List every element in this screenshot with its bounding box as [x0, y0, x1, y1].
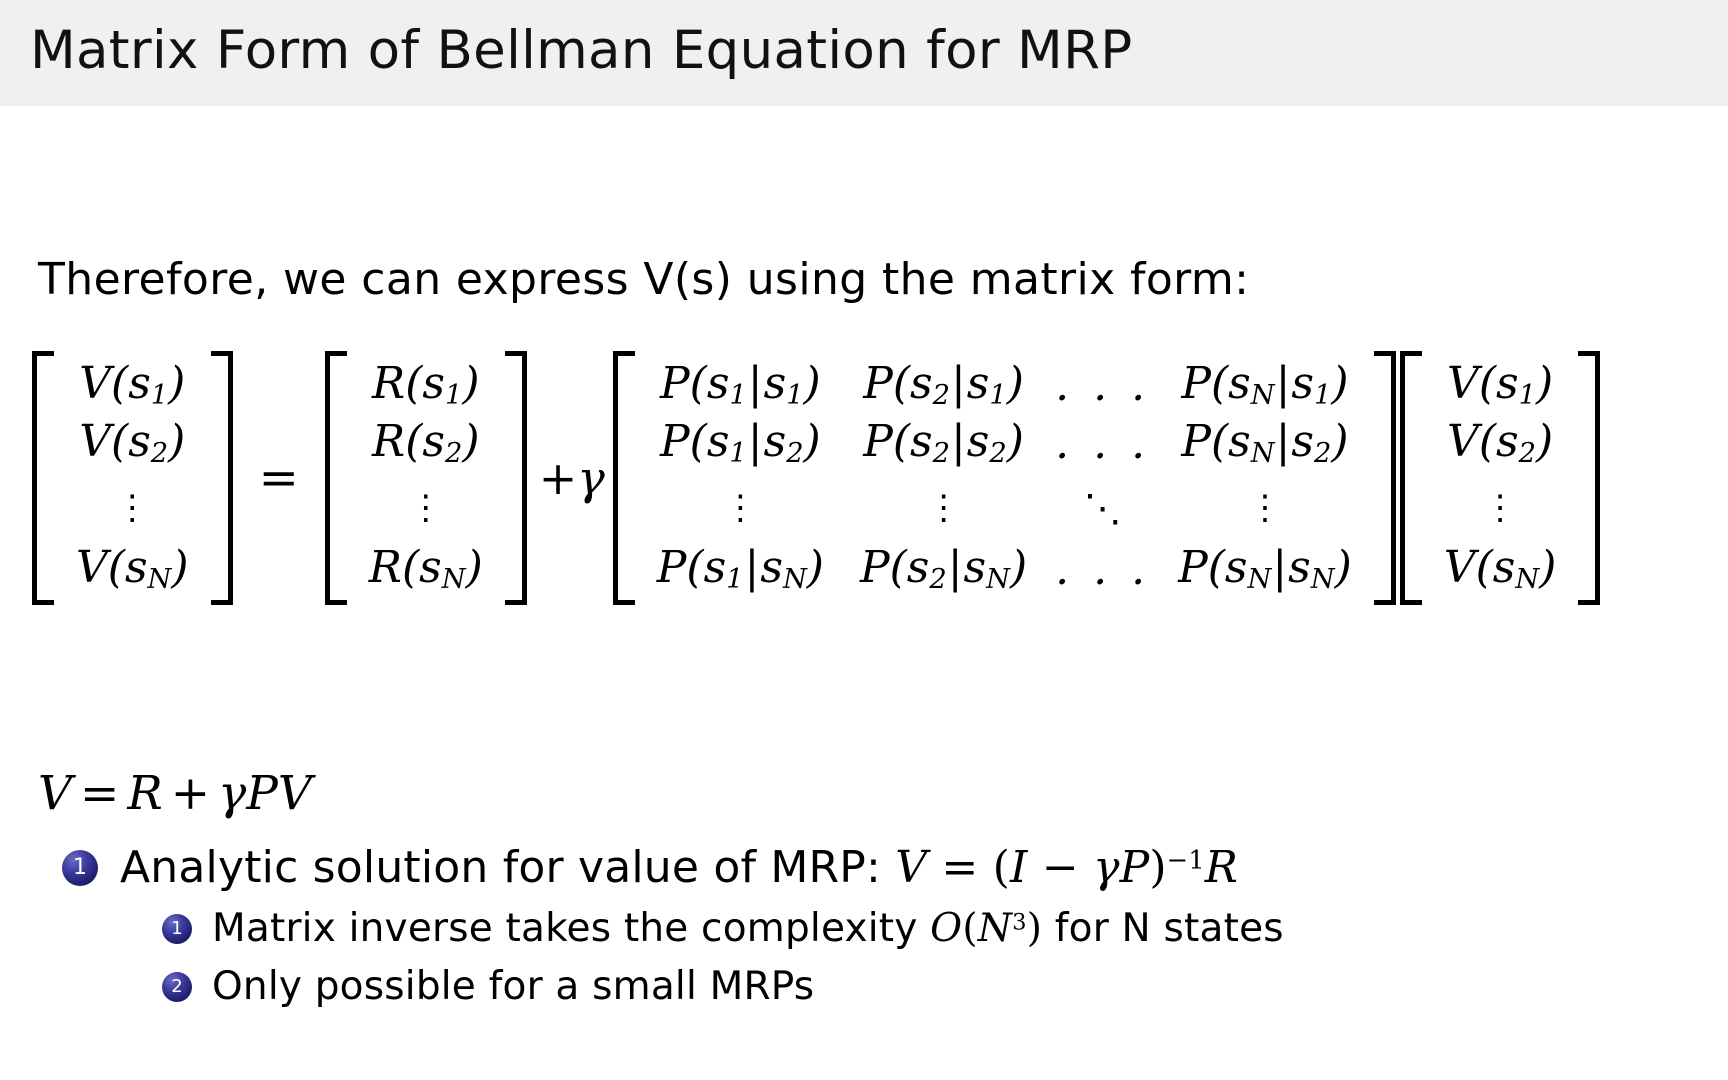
matrix-cell-vdots: ⋮ [58, 473, 207, 541]
matrix-cell: P(s2|s2) [842, 415, 1045, 473]
bullet-number-badge: 2 [162, 972, 192, 1002]
matrix-row: P(s1|s2) P(s2|s2) . . . P(sN|s2) [639, 415, 1370, 473]
matrix-cell: P(s2|s1) [842, 357, 1045, 415]
matrix-row: R(s1) [351, 357, 501, 415]
bullet-label: Analytic solution for value of MRP: [120, 842, 881, 893]
value-vector-rhs: V(s1) V(s2) ⋮ V(sN) [1400, 351, 1601, 605]
matrix-cell: R(s1) [351, 357, 501, 415]
bullet-text: Only possible for a small MRPs [212, 964, 814, 1009]
matrix-row: P(s1|s1) P(s2|s1) . . . P(sN|s1) [639, 357, 1370, 415]
vertical-dots-icon: ⋮ [1483, 498, 1517, 519]
bullet-text: Analytic solution for value of MRP: V = … [120, 842, 1238, 893]
matrix-cell-vdots: ⋮ [842, 473, 1045, 541]
compact-bellman-equation: V=R+γPV [38, 766, 312, 821]
matrix-row: V(s2) [1426, 415, 1575, 473]
bullet-number-badge: 1 [62, 850, 98, 886]
bullet-number-badge: 1 [162, 914, 192, 944]
matrix-cell: P(s1|sN) [639, 541, 842, 599]
page-title: Matrix Form of Bellman Equation for MRP [30, 20, 1132, 81]
matrix-row: ⋮ [58, 473, 207, 541]
matrix-row: R(s2) [351, 415, 501, 473]
matrix-cell-hdots: . . . [1045, 357, 1160, 415]
bullet-label: Matrix inverse takes the complexity [212, 906, 918, 951]
gamma-symbol: γ [577, 451, 605, 505]
matrix-row: P(s1|sN) P(s2|sN) . . . P(sN|sN) [639, 541, 1370, 599]
compact-PV: PV [246, 766, 312, 821]
matrix-cell: V(s1) [1426, 357, 1575, 415]
bullet-label: Only possible for a small MRPs [212, 964, 814, 1009]
bullet-text: Matrix inverse takes the complexity O(N3… [212, 906, 1284, 951]
bullet-equation: V = (I − γP)−1R [895, 842, 1238, 893]
bullet-matrix-inverse-complexity: 1 Matrix inverse takes the complexity O(… [162, 906, 1284, 951]
matrix-bellman-equation: V(s1) V(s2) ⋮ V(sN) = R(s1) [30, 351, 1602, 605]
matrix-cell: P(s2|sN) [842, 541, 1045, 599]
matrix-cell: P(s1|s1) [639, 357, 842, 415]
equals-operator: = [235, 450, 323, 506]
matrix-cell-vdots: ⋮ [639, 473, 842, 541]
bullet-analytic-solution: 1 Analytic solution for value of MRP: V … [62, 842, 1238, 893]
compact-equals: = [72, 766, 127, 821]
value-vector-lhs: V(s1) V(s2) ⋮ V(sN) [32, 351, 233, 605]
matrix-cell-ddots: ⋱ [1045, 473, 1160, 541]
matrix-cell: P(sN|s1) [1160, 357, 1370, 415]
vertical-dots-icon: ⋮ [723, 498, 757, 519]
matrix-cell: V(s2) [58, 415, 207, 473]
bullet-equation: O(N3) [930, 906, 1042, 951]
matrix-cell: R(s2) [351, 415, 501, 473]
compact-V: V [38, 766, 72, 821]
matrix-cell-hdots: . . . [1045, 541, 1160, 599]
matrix-cell-vdots: ⋮ [351, 473, 501, 541]
compact-plus: + [163, 766, 218, 821]
exponent: −1 [1167, 846, 1205, 876]
matrix-row: V(s1) [58, 357, 207, 415]
bullet-label-suffix: for N states [1055, 906, 1284, 951]
matrix-row: ⋮ [351, 473, 501, 541]
plus-gamma-operator: +γ [529, 451, 611, 505]
matrix-cell: V(s2) [1426, 415, 1575, 473]
bullet-small-mrps-only: 2 Only possible for a small MRPs [162, 964, 814, 1009]
matrix-cell: V(sN) [58, 541, 207, 599]
diagonal-dots-icon: ⋱ [1084, 489, 1122, 528]
matrix-row: R(sN) [351, 541, 501, 599]
compact-gamma: γ [218, 766, 246, 821]
matrix-cell: P(sN|sN) [1160, 541, 1370, 599]
vertical-dots-icon: ⋮ [1248, 498, 1282, 519]
compact-R: R [127, 766, 162, 821]
matrix-cell: R(sN) [351, 541, 501, 599]
matrix-row: V(sN) [1426, 541, 1575, 599]
matrix-cell: V(sN) [1426, 541, 1575, 599]
matrix-cell-hdots: . . . [1045, 415, 1160, 473]
reward-vector: R(s1) R(s2) ⋮ R(sN) [325, 351, 527, 605]
vertical-dots-icon: ⋮ [115, 498, 149, 519]
slide-header-bar: Matrix Form of Bellman Equation for MRP [0, 0, 1728, 106]
vertical-dots-icon: ⋮ [927, 498, 961, 519]
matrix-cell-vdots: ⋮ [1426, 473, 1575, 541]
vertical-dots-icon: ⋮ [409, 498, 443, 519]
transition-probability-matrix: P(s1|s1) P(s2|s1) . . . P(sN|s1) P(s1|s2… [613, 351, 1396, 605]
matrix-row: ⋮ ⋮ ⋱ ⋮ [639, 473, 1370, 541]
matrix-row: V(s1) [1426, 357, 1575, 415]
matrix-cell: P(s1|s2) [639, 415, 842, 473]
matrix-row: ⋮ [1426, 473, 1575, 541]
lead-sentence: Therefore, we can express V(s) using the… [38, 254, 1249, 305]
slide-content: Therefore, we can express V(s) using the… [0, 106, 1728, 1080]
exponent: 3 [1012, 909, 1027, 935]
matrix-row: V(sN) [58, 541, 207, 599]
matrix-cell: P(sN|s2) [1160, 415, 1370, 473]
matrix-cell: V(s1) [58, 357, 207, 415]
matrix-cell-vdots: ⋮ [1160, 473, 1370, 541]
matrix-row: V(s2) [58, 415, 207, 473]
